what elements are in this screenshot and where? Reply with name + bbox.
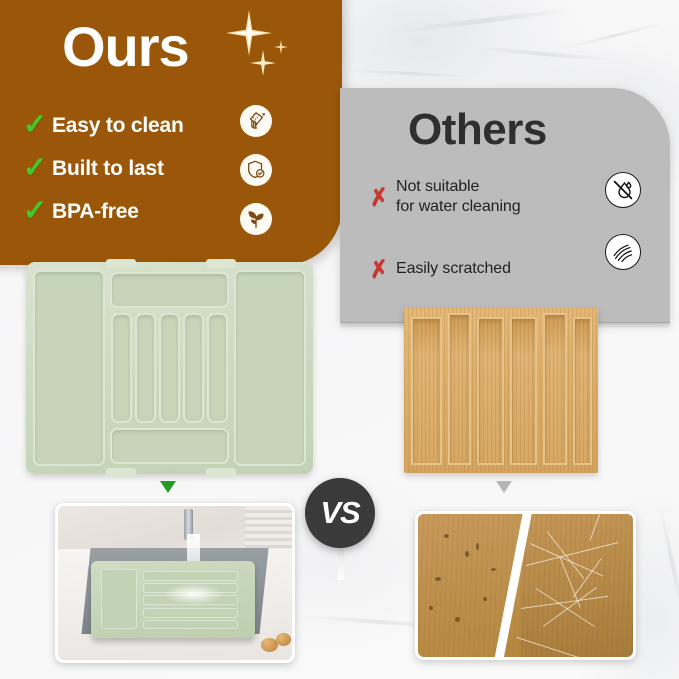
stain-spot: [476, 543, 479, 550]
stain-spot: [455, 617, 460, 622]
ours-bullet-label: Built to last: [52, 157, 164, 181]
sink-tray-compartment: [143, 571, 238, 581]
scratched-surface-icon: [605, 234, 641, 270]
bamboo-tray-compartment: [411, 317, 442, 465]
marble-vein: [345, 69, 475, 79]
marble-vein: [470, 45, 620, 62]
leaf-plant-icon: [240, 203, 272, 235]
green-tray-tab: [106, 259, 136, 268]
scratched-wood-half: [521, 514, 633, 657]
no-water-droplet-icon: [605, 172, 641, 208]
marble-vein: [658, 503, 679, 621]
bamboo-tray-compartment: [448, 313, 471, 465]
shield-check-icon: [240, 154, 272, 186]
bamboo-tray-compartment: [543, 313, 567, 465]
ours-bullet-list: ✓ Easy to clean ✓ Built to last ✓ BPA-fr…: [18, 104, 318, 233]
bamboo-tray-compartment: [510, 317, 537, 465]
stain-spot: [429, 606, 433, 610]
others-bullet-list: ✗ Not suitable for water cleaning ✗ Easi…: [362, 170, 612, 296]
green-tray-compartment: [110, 272, 229, 308]
ours-panel-title: Ours: [62, 19, 189, 75]
vs-badge-label: VS: [320, 495, 359, 531]
ours-product-image: [26, 262, 313, 474]
green-tray-compartment: [183, 313, 204, 423]
ours-bullet-label: Easy to clean: [52, 114, 184, 138]
sparkle-large-icon: [226, 10, 272, 56]
others-panel-title: Others: [408, 108, 547, 152]
check-icon: ✓: [18, 111, 52, 140]
green-tray-tab: [106, 468, 136, 477]
ours-bullet-row: ✓ Built to last: [18, 147, 318, 190]
others-bullet-row: ✗ Easily scratched: [362, 242, 612, 296]
vs-badge: VS: [305, 478, 375, 548]
x-icon: ✗: [361, 255, 398, 283]
green-tray-compartment: [207, 313, 228, 423]
x-icon: ✗: [361, 183, 398, 211]
bamboo-tray-compartment: [573, 317, 592, 465]
sparkle-medium-icon: [250, 50, 276, 76]
ours-bullet-label: BPA-free: [52, 200, 139, 224]
others-bullet-label-line1: Not suitable: [396, 178, 479, 195]
green-tray-compartment: [111, 313, 132, 423]
others-bullet-label: Easily scratched: [396, 259, 511, 279]
green-tray-compartment: [234, 270, 306, 466]
comparison-infographic: Ours ✓ Easy to clean ✓ Built to last ✓ B…: [0, 0, 679, 679]
stain-spot: [444, 534, 449, 538]
stain-spot: [483, 597, 487, 601]
down-arrow-others-icon: [496, 481, 512, 493]
sparkle-small-icon: [274, 40, 288, 54]
nut-decoration: [276, 633, 291, 646]
ours-bullet-row: ✓ BPA-free: [18, 190, 318, 233]
others-lifestyle-photo: [415, 511, 636, 660]
others-product-image: [404, 308, 598, 473]
green-tray-compartment: [33, 270, 105, 466]
bamboo-tray-compartment: [477, 317, 504, 465]
others-bullet-label: Not suitable for water cleaning: [396, 177, 521, 216]
sink-tray-compartment: [143, 608, 238, 618]
green-tray-compartment: [135, 313, 156, 423]
green-tray-compartment: [159, 313, 180, 423]
ours-bullet-row: ✓ Easy to clean: [18, 104, 318, 147]
ours-lifestyle-photo: [55, 503, 295, 663]
sink-tray-compartment: [101, 569, 137, 629]
marble-vein: [390, 6, 579, 34]
others-bullet-label-line2: for water cleaning: [396, 198, 521, 215]
hand-wiping-sponge-icon: [240, 105, 272, 137]
check-icon: ✓: [18, 197, 52, 226]
water-foam: [163, 583, 224, 605]
marble-vein: [561, 21, 668, 51]
others-bullet-row: ✗ Not suitable for water cleaning: [362, 170, 612, 224]
green-tray-tab: [206, 259, 236, 268]
green-tray-tab: [206, 468, 236, 477]
sink-tray-compartment: [143, 620, 238, 629]
down-arrow-ours-icon: [160, 481, 176, 493]
stain-spot: [435, 577, 441, 581]
green-tray-compartment: [110, 428, 229, 464]
check-icon: ✓: [18, 154, 52, 183]
